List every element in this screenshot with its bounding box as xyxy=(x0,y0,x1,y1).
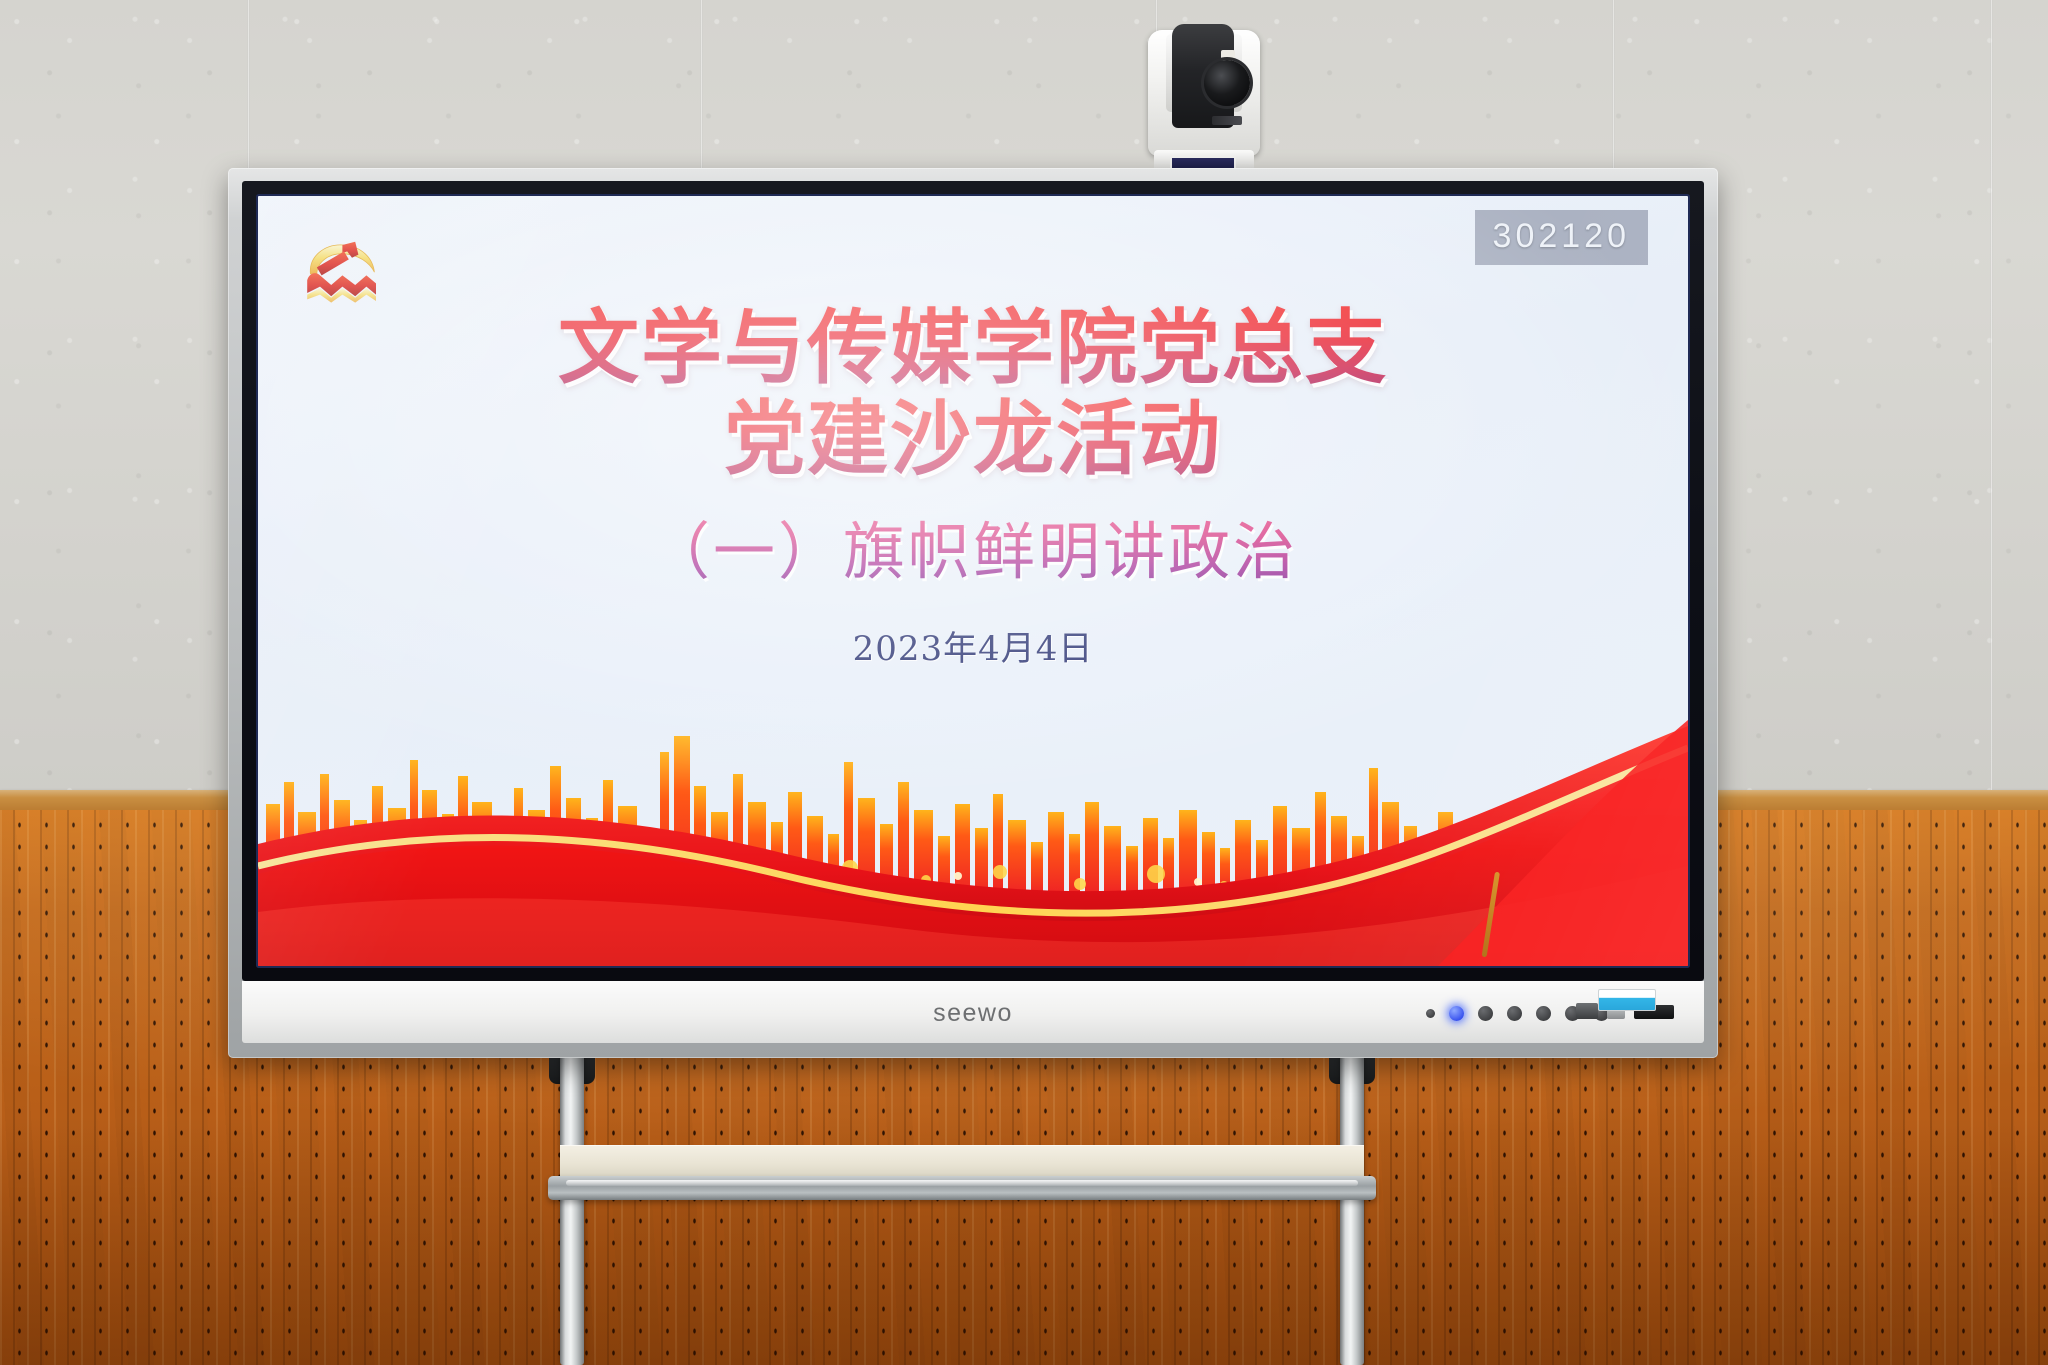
stand-crossbar-highlight xyxy=(566,1180,1358,1186)
stand-shelf xyxy=(560,1145,1364,1179)
conference-room-scene: 302120 文学与传媒学院党总支 党建沙龙活动 （一）旗帜鲜明讲政治 2023… xyxy=(0,0,2048,1365)
ptz-conference-camera xyxy=(1148,22,1260,182)
source-button-icon[interactable] xyxy=(1478,1006,1493,1021)
room-number-badge: 302120 xyxy=(1475,210,1648,265)
slide-date: 2023年4月4日 xyxy=(258,621,1688,670)
display-screen[interactable]: 302120 文学与传媒学院党总支 党建沙龙活动 （一）旗帜鲜明讲政治 2023… xyxy=(258,196,1688,966)
wall-seam xyxy=(1990,0,1993,800)
ccp-party-emblem-icon xyxy=(296,232,392,306)
display-chin-bar: seewo xyxy=(242,981,1704,1043)
interactive-flat-panel-display[interactable]: 302120 文学与传媒学院党总支 党建沙龙活动 （一）旗帜鲜明讲政治 2023… xyxy=(228,168,1718,1058)
slide-title: 文学与传媒学院党总支 党建沙龙活动 xyxy=(258,304,1688,485)
menu-button-icon[interactable] xyxy=(1426,1009,1435,1018)
volume-up-button-icon[interactable] xyxy=(1536,1006,1551,1021)
slide-title-line-1: 文学与传媒学院党总支 xyxy=(258,304,1688,395)
camera-ir-strip xyxy=(1212,116,1242,125)
compliance-sticker xyxy=(1598,989,1656,1011)
slide-subtitle: （一）旗帜鲜明讲政治 xyxy=(258,501,1688,591)
slide-title-line-2: 党建沙龙活动 xyxy=(258,395,1688,486)
slide-bottom-decoration xyxy=(258,716,1688,966)
display-port-cluster[interactable] xyxy=(1576,1003,1674,1019)
volume-down-button-icon[interactable] xyxy=(1507,1006,1522,1021)
power-button-icon[interactable] xyxy=(1449,1006,1464,1021)
presentation-slide: 302120 文学与传媒学院党总支 党建沙龙活动 （一）旗帜鲜明讲政治 2023… xyxy=(258,196,1688,966)
camera-head xyxy=(1172,24,1234,128)
usb-port-icon[interactable] xyxy=(1576,1003,1598,1019)
stand-post-left xyxy=(560,1055,584,1365)
stand-post-right xyxy=(1340,1055,1364,1365)
camera-lens-icon xyxy=(1204,60,1250,106)
